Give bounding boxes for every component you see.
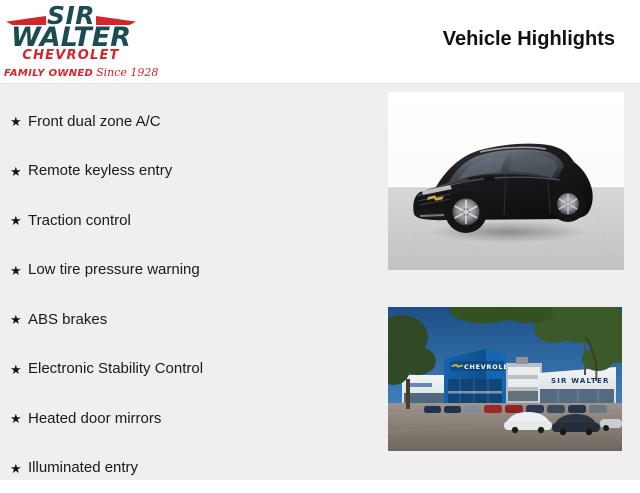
list-item: ★ Heated door mirrors <box>0 394 370 444</box>
list-item: ★ Low tire pressure warning <box>0 246 370 296</box>
list-item: ★ Traction control <box>0 196 370 246</box>
slide-root: SIR WALTER CHEVROLET FAMILY OWNEDSince 1… <box>0 0 640 480</box>
dealer-logo[interactable]: SIR WALTER CHEVROLET FAMILY OWNEDSince 1… <box>4 2 138 82</box>
dealership-sign-sir-walter: SIR WALTER <box>551 377 610 385</box>
page-title: Vehicle Highlights <box>443 28 615 51</box>
star-icon: ★ <box>10 264 28 277</box>
list-item-label: Illuminated entry <box>28 459 138 477</box>
vehicle-highlights-list: ★ Front dual zone A/C ★ Remote keyless e… <box>0 85 370 493</box>
rear-wheel <box>550 186 586 222</box>
list-item-label: ABS brakes <box>28 311 107 329</box>
list-item-label: Low tire pressure warning <box>28 261 200 279</box>
list-item: ★ Front dual zone A/C <box>0 97 370 147</box>
media-column: CHEVROLET SIR WALTER <box>388 85 624 451</box>
star-icon: ★ <box>10 214 28 227</box>
list-item-label: Traction control <box>28 212 131 230</box>
list-item: ★ Electronic Stability Control <box>0 345 370 395</box>
list-item: ★ Remote keyless entry <box>0 147 370 197</box>
star-icon: ★ <box>10 115 28 128</box>
star-icon: ★ <box>10 462 28 475</box>
vehicle-photo[interactable] <box>388 92 624 270</box>
list-item-label: Front dual zone A/C <box>28 113 161 131</box>
logo-tagline-family-owned: FAMILY OWNED <box>4 68 93 79</box>
front-wheel <box>445 191 487 233</box>
star-icon: ★ <box>10 313 28 326</box>
tree-canopy-top <box>450 307 554 323</box>
star-icon: ★ <box>10 412 28 425</box>
star-icon: ★ <box>10 363 28 376</box>
list-item: ★ Illuminated entry <box>0 444 370 493</box>
list-item-label: Remote keyless entry <box>28 162 172 180</box>
dealership-photo-graphic: CHEVROLET SIR WALTER <box>388 307 622 451</box>
list-item: ★ ABS brakes <box>0 295 370 345</box>
logo-tagline: FAMILY OWNEDSince 1928 <box>4 65 138 81</box>
star-icon: ★ <box>10 165 28 178</box>
vehicle-photo-graphic <box>388 92 624 270</box>
page-content: ★ Front dual zone A/C ★ Remote keyless e… <box>0 85 640 480</box>
dealership-photo[interactable]: CHEVROLET SIR WALTER <box>388 307 622 451</box>
page-header: SIR WALTER CHEVROLET FAMILY OWNEDSince 1… <box>0 0 640 84</box>
list-item-label: Electronic Stability Control <box>28 360 203 378</box>
logo-line-chevrolet: CHEVROLET <box>4 49 138 63</box>
logo-tagline-since: Since 1928 <box>96 66 158 79</box>
list-item-label: Heated door mirrors <box>28 410 161 428</box>
